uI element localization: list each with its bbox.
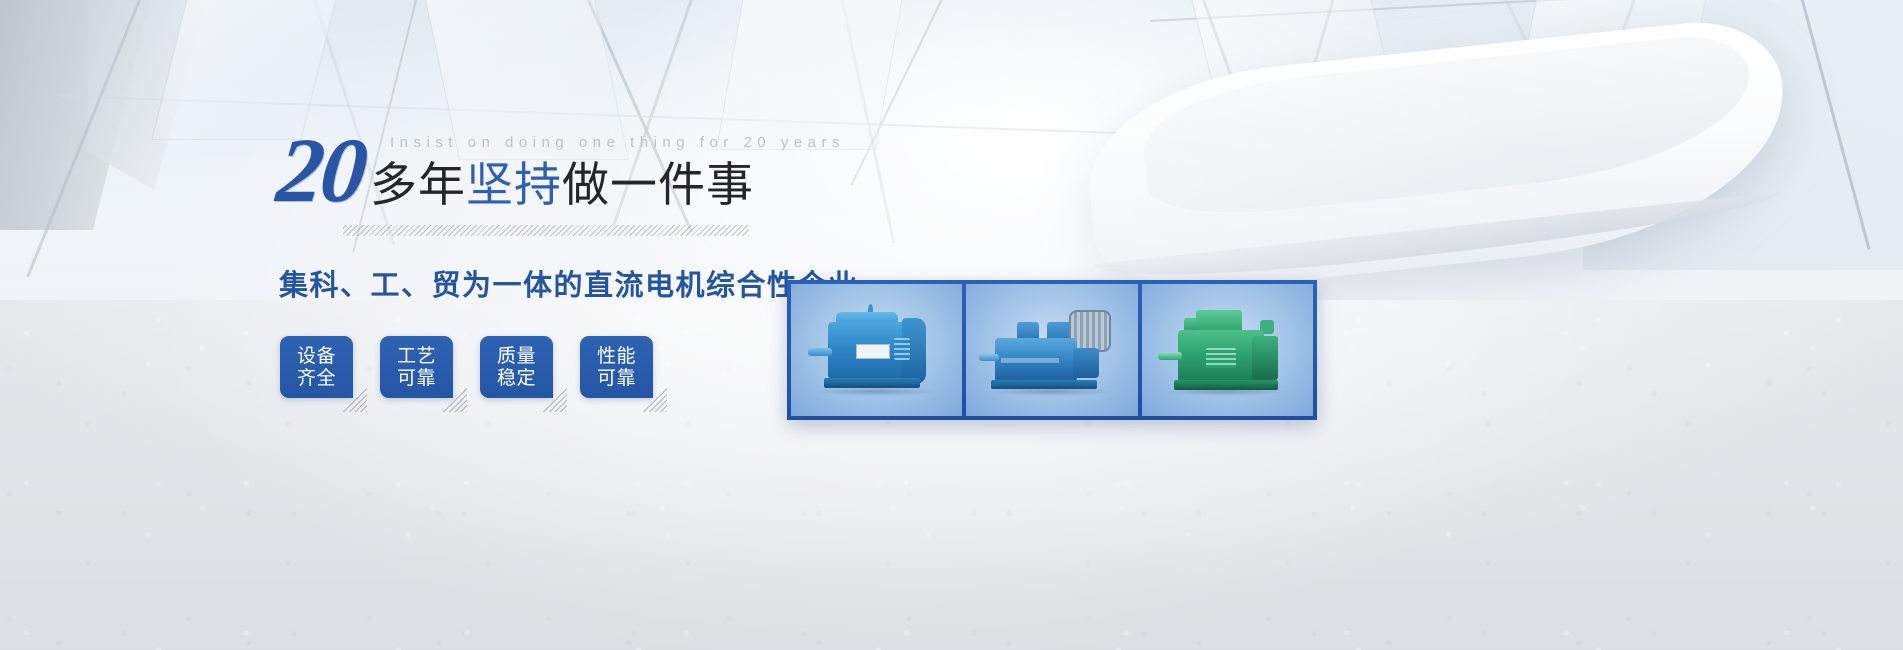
feature-badge-performance[interactable]: 性能 可靠 <box>580 336 653 398</box>
motor-shadow <box>816 387 936 396</box>
motor-base <box>991 380 1097 389</box>
banner-content: Insist on doing one thing for 20 years 2… <box>0 0 1903 650</box>
motor-base <box>824 378 920 388</box>
motor-end-bell <box>1073 348 1099 378</box>
motor-shaft <box>1158 352 1182 360</box>
product-image-dc-motor-blue-large[interactable] <box>791 284 962 416</box>
feature-badge-equipment[interactable]: 设备 齐全 <box>280 336 353 398</box>
headline-cn-part2: 做一件事 <box>562 158 754 213</box>
headline-cn-highlight: 坚持 <box>466 158 562 213</box>
headline-cn-part1: 多年 <box>370 158 466 213</box>
motor-shaft <box>808 348 832 356</box>
motor-illustration-blue-large <box>802 296 952 404</box>
product-image-dc-motor-green[interactable] <box>1142 284 1313 416</box>
motor-shaft <box>979 354 999 361</box>
motor-vent-grille <box>1206 348 1236 368</box>
motor-illustration-green <box>1152 296 1302 404</box>
badge-line-1: 质量 <box>497 345 536 367</box>
motor-vent-grille <box>894 338 910 360</box>
motor-illustration-blue-blower <box>977 296 1127 404</box>
product-image-dc-motor-blue-with-blower[interactable] <box>966 284 1137 416</box>
feature-badge-quality[interactable]: 质量 稳定 <box>480 336 553 398</box>
motor-nameplate <box>856 344 890 359</box>
hero-banner: Insist on doing one thing for 20 years 2… <box>0 0 1903 650</box>
headline-chinese: 多年坚持做一件事 <box>370 162 754 213</box>
motor-highlight-stripe <box>1001 358 1059 363</box>
feature-badge-craft[interactable]: 工艺 可靠 <box>380 336 453 398</box>
badge-line-1: 工艺 <box>397 345 436 367</box>
hatched-divider <box>343 225 749 236</box>
sub-headline: 集科、工、贸为一体的直流电机综合性企业 <box>279 262 859 304</box>
motor-base <box>1174 380 1278 390</box>
product-showcase-panel <box>787 280 1317 420</box>
badge-line-1: 性能 <box>597 345 636 367</box>
badge-line-2: 可靠 <box>397 367 436 389</box>
badge-line-2: 齐全 <box>297 367 336 389</box>
motor-top-housing <box>1196 310 1242 332</box>
badge-line-1: 设备 <box>297 345 336 367</box>
badge-line-2: 稳定 <box>497 367 536 389</box>
badge-line-2: 可靠 <box>597 367 636 389</box>
headline-number: 20 <box>274 128 369 213</box>
motor-end-bell <box>1252 336 1278 380</box>
feature-badge-list: 设备 齐全 工艺 可靠 质量 稳定 性能 可靠 <box>280 336 653 398</box>
main-headline: 20 多年坚持做一件事 <box>278 128 754 213</box>
